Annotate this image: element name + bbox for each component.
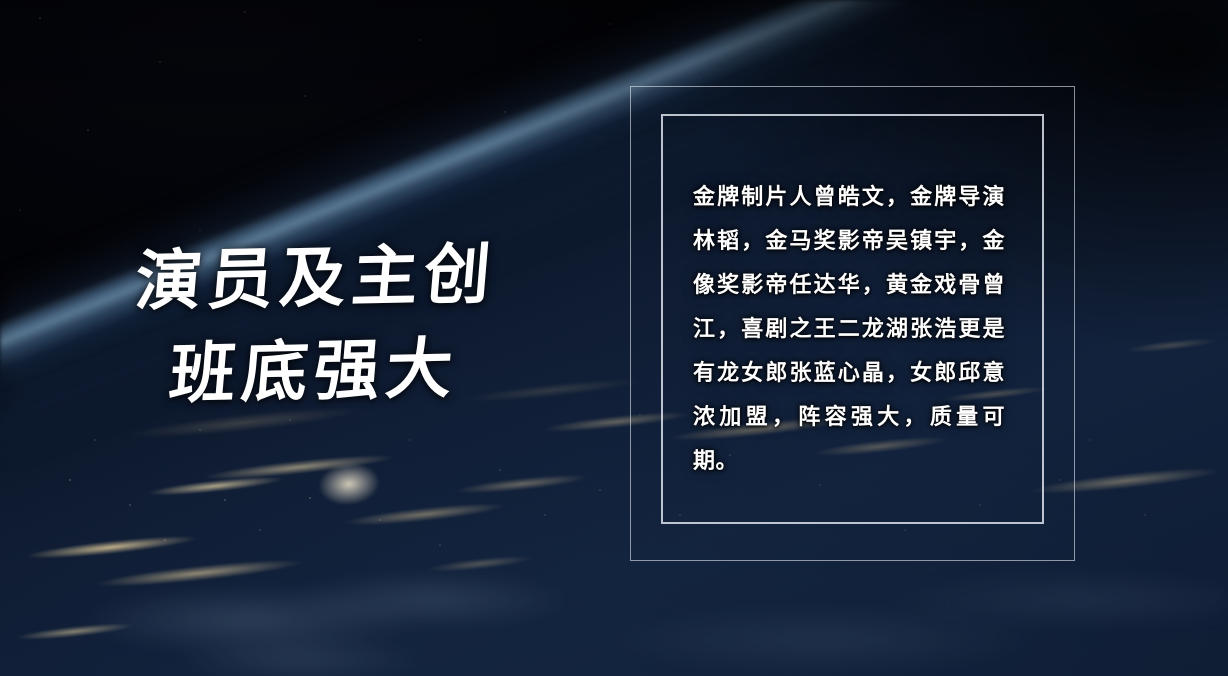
slide-title-line-2: 班底强大 <box>166 321 542 420</box>
slide-title-line-1: 演员及主创 <box>132 228 542 327</box>
presentation-slide: 演员及主创 班底强大 金牌制片人曾皓文，金牌导演林韬，金马奖影帝吴镇宇，金像奖影… <box>0 0 1228 676</box>
slide-title: 演员及主创 班底强大 <box>118 232 538 416</box>
body-paragraph: 金牌制片人曾皓文，金牌导演林韬，金马奖影帝吴镇宇，金像奖影帝任达华，黄金戏骨曾江… <box>693 176 1005 484</box>
